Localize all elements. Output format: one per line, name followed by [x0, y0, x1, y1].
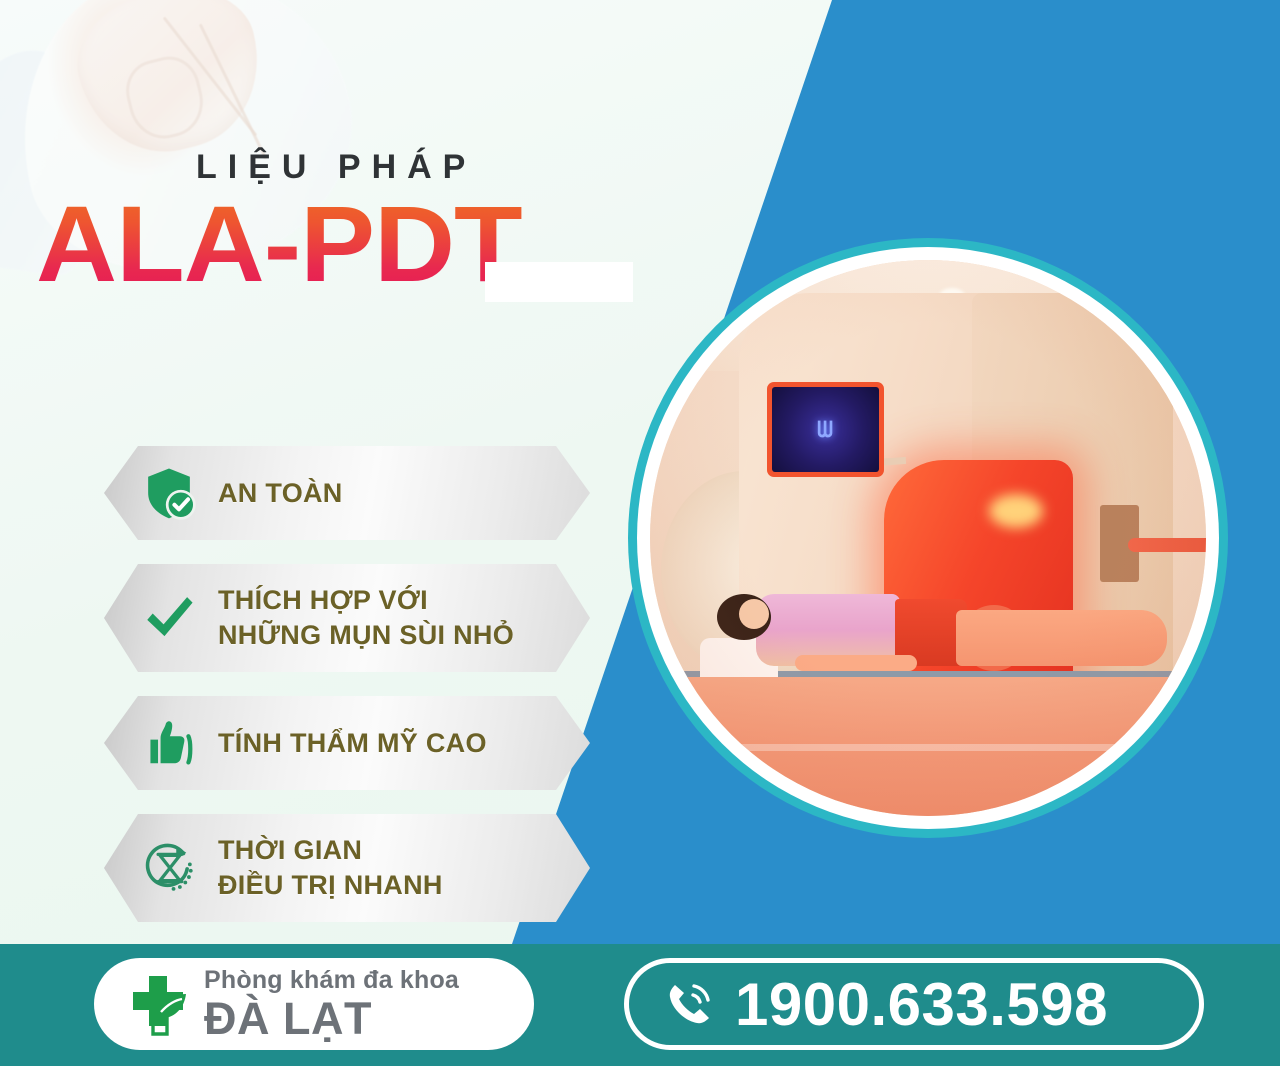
hourglass-timer-icon [138, 837, 200, 899]
treatment-photo: ᗯ [628, 238, 1228, 838]
clinic-subtitle: Phòng khám đa khoa [204, 968, 459, 993]
feature-label: THỜI GIAN ĐIỀU TRỊ NHANH [218, 833, 443, 902]
check-mark-icon [138, 587, 200, 649]
phone-number: 1900.633.598 [735, 970, 1108, 1039]
feature-line: TÍNH THẨM MỸ CAO [218, 728, 487, 758]
clinic-badge[interactable]: Phòng khám đa khoa ĐÀ LẠT [94, 958, 534, 1050]
clinic-name: ĐÀ LẠT [204, 996, 459, 1041]
photo-image: ᗯ [650, 260, 1206, 816]
feature-line: NHỮNG MỤN SÙI NHỎ [218, 618, 514, 653]
feature-line: AN TOÀN [218, 478, 343, 508]
feature-item-thoi-gian[interactable]: THỜI GIAN ĐIỀU TRỊ NHANH [104, 814, 590, 922]
page-title: ALA-PDT [36, 190, 522, 298]
feature-line: ĐIỀU TRỊ NHANH [218, 868, 443, 903]
phone-ringing-icon [661, 976, 717, 1032]
page-kicker: LIỆU PHÁP [196, 148, 476, 187]
feature-label: AN TOÀN [218, 476, 343, 511]
photo-vignette [650, 260, 1206, 816]
poster-root: LIỆU PHÁP ALA-PDT ᗯ [0, 0, 1280, 1066]
footer-bar: Phòng khám đa khoa ĐÀ LẠT 1900.633.598 [0, 944, 1280, 1066]
feature-list: AN TOÀN THÍCH HỢP VỚI NHỮNG MỤN SÙI NHỎ [104, 446, 590, 946]
shield-check-icon [138, 462, 200, 524]
feature-item-tham-my[interactable]: TÍNH THẨM MỸ CAO [104, 696, 590, 790]
clinic-text-block: Phòng khám đa khoa ĐÀ LẠT [204, 968, 459, 1041]
thumbs-up-icon [138, 712, 200, 774]
feature-line: THÍCH HỢP VỚI [218, 583, 514, 618]
feature-label: TÍNH THẨM MỸ CAO [218, 726, 487, 761]
feature-line: THỜI GIAN [218, 833, 443, 868]
feature-item-thich-hop[interactable]: THÍCH HỢP VỚI NHỮNG MỤN SÙI NHỎ [104, 564, 590, 672]
phone-badge[interactable]: 1900.633.598 [624, 958, 1204, 1050]
clinic-cross-leaf-logo [120, 968, 194, 1040]
feature-label: THÍCH HỢP VỚI NHỮNG MỤN SÙI NHỎ [218, 583, 514, 652]
feature-item-an-toan[interactable]: AN TOÀN [104, 446, 590, 540]
title-white-tab [485, 262, 633, 302]
